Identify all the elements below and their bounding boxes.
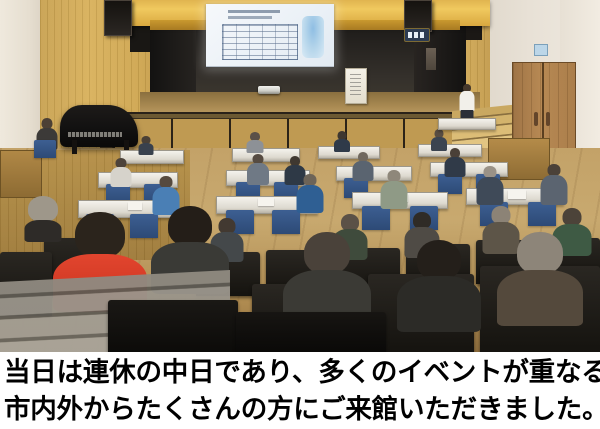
handout-paper-1 — [128, 202, 142, 210]
attendee-row2-1 — [110, 158, 132, 186]
head — [304, 232, 350, 274]
clock-digits — [408, 32, 426, 38]
torso — [353, 161, 374, 181]
head-dark-hair — [75, 212, 125, 258]
screenshot-root: 当日は連休の中日であり、多くのイベントが重なる中 市内外からたくさんの方にご来館… — [0, 0, 600, 429]
slide-title-line-2 — [228, 16, 272, 19]
torso — [541, 175, 568, 205]
attendee-row2-2 — [246, 154, 269, 184]
caption-block: 当日は連休の中日であり、多くのイベントが重なる中 市内外からたくさんの方にご来館… — [0, 352, 600, 429]
wall-vent — [426, 48, 436, 70]
attendee-row1-3 — [333, 131, 350, 151]
caption-line-2: 市内外からたくさんの方にご来館いただきました。 — [4, 391, 596, 428]
attendee-front-right — [396, 240, 482, 330]
attendee-row3-3 — [380, 170, 408, 208]
attendee-front-far-right — [496, 232, 584, 324]
torso — [445, 157, 466, 177]
slide-table-graphic — [222, 24, 298, 60]
attendee-row2-4 — [352, 152, 374, 180]
handout-paper-4 — [508, 190, 526, 199]
torso — [111, 167, 132, 187]
head-grey-hair — [517, 232, 563, 274]
torso — [297, 185, 324, 213]
torso-patterned — [497, 270, 583, 326]
handout-paper-2 — [258, 198, 274, 206]
attendee-row2-5 — [444, 148, 466, 176]
attendee-row3-4 — [476, 166, 504, 204]
torso-white-shirt — [460, 91, 475, 111]
stage-front-panels — [112, 118, 464, 150]
torso — [334, 139, 350, 152]
door-sign-plate — [534, 44, 548, 56]
projector-device — [258, 86, 280, 94]
wall-speaker-left-icon — [104, 0, 132, 36]
torso — [247, 163, 269, 185]
torso — [397, 276, 481, 332]
torso — [381, 181, 408, 209]
torso — [139, 143, 154, 155]
digital-wall-clock — [404, 28, 430, 42]
table-staff — [438, 118, 496, 130]
caption-line-1: 当日は連休の中日であり、多くのイベントが重なる中 — [4, 354, 596, 391]
torso — [477, 177, 504, 205]
hall-event-photograph — [0, 0, 600, 352]
attendee-row1-2 — [246, 132, 264, 152]
slide-title-line-1 — [228, 10, 280, 13]
theater-seat-foreground-center — [236, 312, 386, 352]
attendee-row3-5 — [540, 164, 568, 204]
torso — [247, 140, 264, 153]
attendee-row1-4 — [430, 129, 447, 150]
slide-figure-graphic — [302, 16, 324, 58]
head-dark-hair — [168, 206, 212, 246]
attendee-row3-2 — [296, 174, 324, 212]
chair-row3-4 — [272, 210, 300, 234]
easel-sign — [345, 68, 367, 104]
door-handle-right — [546, 112, 550, 126]
chair-row2-6 — [438, 174, 462, 194]
attendee-row1-1 — [138, 136, 154, 154]
piano-leg-left — [72, 140, 77, 154]
projection-screen — [206, 4, 334, 67]
piano-keyboard — [68, 132, 122, 137]
door-handle-left — [534, 112, 538, 126]
head-dark-hair — [417, 240, 461, 280]
chair-near-piano — [34, 140, 56, 158]
theater-seat-foreground-left — [108, 300, 238, 352]
